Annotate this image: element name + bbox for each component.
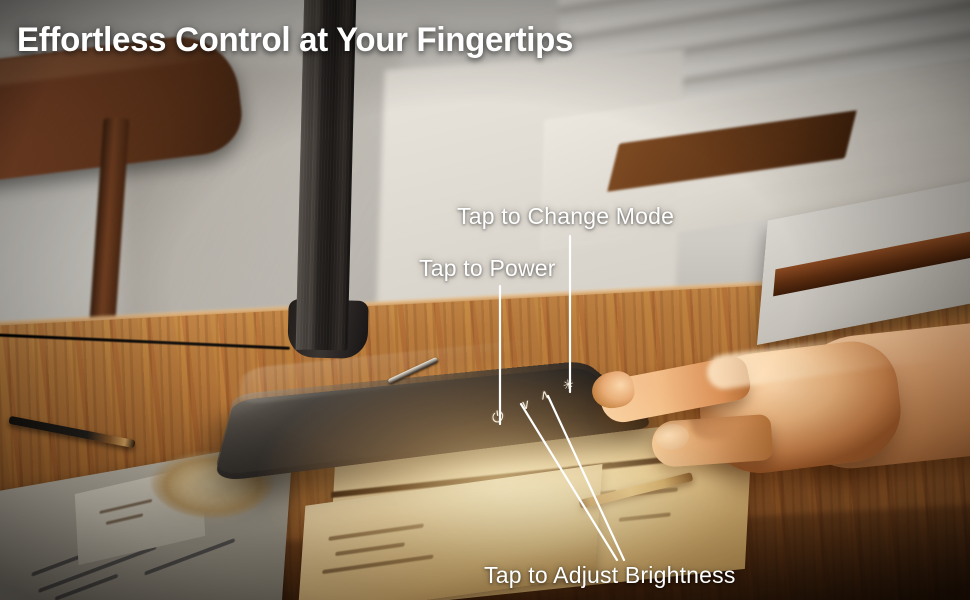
- label-tap-to-power: Tap to Power: [419, 255, 556, 282]
- product-hero-image: ⏻ ∨ ∧ ✳ Tap to Power Tap to Change Mode …: [0, 0, 970, 600]
- label-tap-to-adjust-brightness: Tap to Adjust Brightness: [484, 562, 736, 589]
- annotation-labels: Tap to Power Tap to Change Mode Tap to A…: [0, 0, 970, 600]
- label-tap-to-change-mode: Tap to Change Mode: [457, 203, 674, 230]
- page-title: Effortless Control at Your Fingertips: [17, 21, 573, 60]
